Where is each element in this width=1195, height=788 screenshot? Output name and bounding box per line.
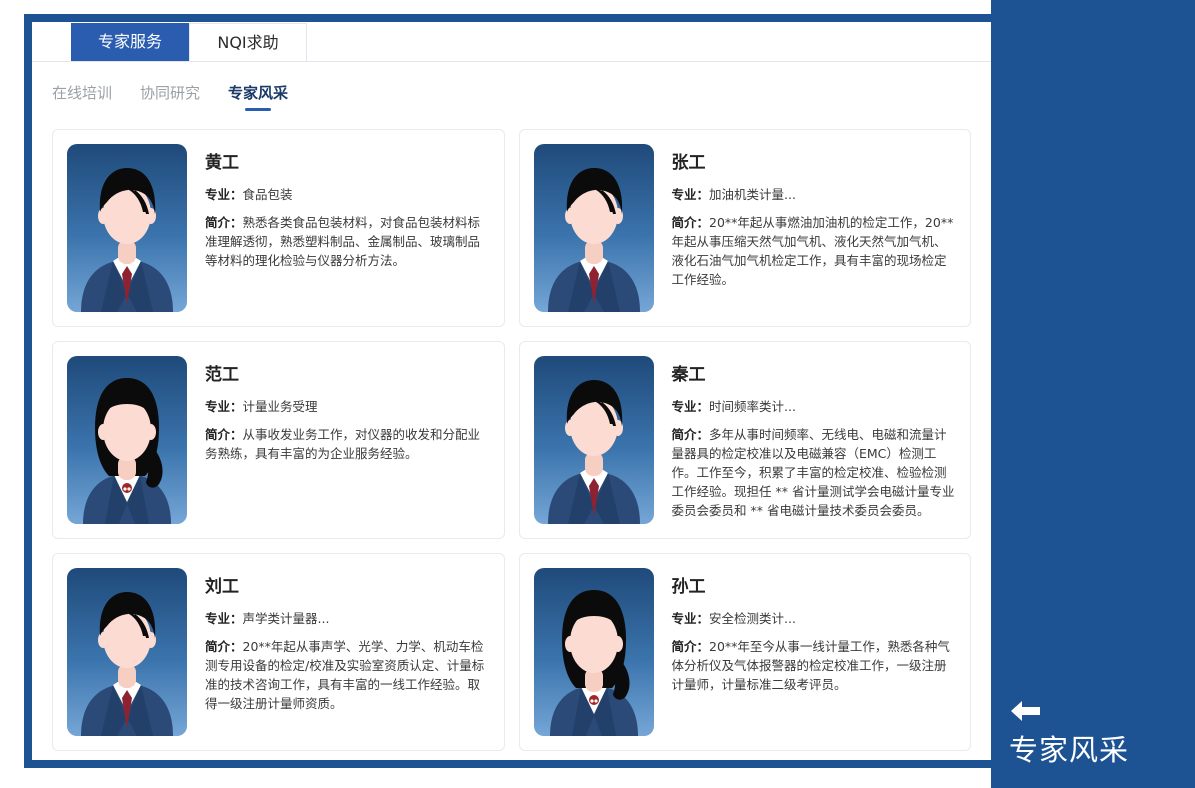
expert-info: 黄工 专业：食品包装 简介：熟悉各类食品包装材料，对食品包装材料标准理解透彻，熟… (187, 144, 490, 312)
major-value: 加油机类计量... (709, 187, 796, 202)
expert-major-row: 专业：安全检测类计... (672, 609, 957, 628)
major-label: 专业： (205, 187, 243, 202)
expert-avatar-范工 (67, 356, 187, 524)
bio-value: 20**年至今从事一线计量工作，熟悉各种气体分析仪及气体报警器的检定校准工作，一… (672, 639, 950, 692)
expert-card-4[interactable]: 秦工 专业：时间频率类计... 简介：多年从事时间频率、无线电、电磁和流量计量器… (519, 341, 972, 539)
bio-label: 简介： (205, 639, 243, 654)
expert-card-5[interactable]: 刘工 专业：声学类计量器... 简介：20**年起从事声学、光学、力学、机动车检… (52, 553, 505, 751)
expert-bio-row: 简介：20**年起从事声学、光学、力学、机动车检测专用设备的检定/校准及实验室资… (205, 637, 490, 713)
bio-value: 20**年起从事声学、光学、力学、机动车检测专用设备的检定/校准及实验室资质认定… (205, 639, 484, 711)
expert-name: 范工 (205, 360, 490, 385)
expert-info: 孙工 专业：安全检测类计... 简介：20**年至今从事一线计量工作，熟悉各种气… (654, 568, 957, 736)
expert-avatar-刘工 (67, 568, 187, 736)
expert-card-grid: 黄工 专业：食品包装 简介：熟悉各类食品包装材料，对食品包装材料标准理解透彻，熟… (32, 111, 991, 751)
expert-name: 孙工 (672, 572, 957, 597)
expert-avatar-秦工 (534, 356, 654, 524)
bio-label: 简介： (672, 427, 710, 442)
major-label: 专业： (205, 611, 243, 626)
major-value: 计量业务受理 (243, 399, 318, 414)
bio-label: 简介： (205, 215, 243, 230)
expert-info: 刘工 专业：声学类计量器... 简介：20**年起从事声学、光学、力学、机动车检… (187, 568, 490, 736)
major-value: 时间频率类计... (709, 399, 796, 414)
sub-tab-bar: 在线培训 协同研究 专家风采 (32, 62, 991, 111)
expert-card-1[interactable]: 黄工 专业：食品包装 简介：熟悉各类食品包装材料，对食品包装材料标准理解透彻，熟… (52, 129, 505, 327)
expert-info: 范工 专业：计量业务受理 简介：从事收发业务工作，对仪器的收发和分配业务熟练，具… (187, 356, 490, 524)
expert-bio-row: 简介：从事收发业务工作，对仪器的收发和分配业务熟练，具有丰富的为企业服务经验。 (205, 425, 490, 463)
app-window-frame: 专家服务 NQI求助 在线培训 协同研究 专家风采 (24, 14, 991, 768)
tab-nqi-help[interactable]: NQI求助 (189, 23, 307, 61)
expert-name: 刘工 (205, 572, 490, 597)
expert-bio-row: 简介：20**年至今从事一线计量工作，熟悉各种气体分析仪及气体报警器的检定校准工… (672, 637, 957, 694)
expert-name: 张工 (672, 148, 957, 173)
major-value: 安全检测类计... (709, 611, 796, 626)
sub-tab-expert-showcase[interactable]: 专家风采 (228, 82, 288, 111)
bio-value: 多年从事时间频率、无线电、电磁和流量计量器具的检定校准以及电磁兼容（EMC）检测… (672, 427, 955, 518)
major-label: 专业： (205, 399, 243, 414)
expert-card-3[interactable]: 范工 专业：计量业务受理 简介：从事收发业务工作，对仪器的收发和分配业务熟练，具… (52, 341, 505, 539)
expert-card-6[interactable]: 孙工 专业：安全检测类计... 简介：20**年至今从事一线计量工作，熟悉各种气… (519, 553, 972, 751)
bio-label: 简介： (672, 215, 710, 230)
sub-tab-online-training[interactable]: 在线培训 (52, 82, 112, 111)
expert-card-2[interactable]: 张工 专业：加油机类计量... 简介：20**年起从事燃油加油机的检定工作，20… (519, 129, 972, 327)
app-content: 专家服务 NQI求助 在线培训 协同研究 专家风采 (32, 22, 991, 760)
bio-value: 20**年起从事燃油加油机的检定工作，20**年起从事压缩天然气加气机、液化天然… (672, 215, 954, 287)
major-label: 专业： (672, 187, 710, 202)
expert-bio-row: 简介：多年从事时间频率、无线电、电磁和流量计量器具的检定校准以及电磁兼容（EMC… (672, 425, 957, 520)
expert-major-row: 专业：时间频率类计... (672, 397, 957, 416)
major-label: 专业： (672, 611, 710, 626)
bio-label: 简介： (672, 639, 710, 654)
expert-name: 黄工 (205, 148, 490, 173)
side-panel: 专家风采 (991, 0, 1195, 788)
expert-bio-row: 简介：20**年起从事燃油加油机的检定工作，20**年起从事压缩天然气加气机、液… (672, 213, 957, 289)
expert-major-row: 专业：加油机类计量... (672, 185, 957, 204)
expert-info: 秦工 专业：时间频率类计... 简介：多年从事时间频率、无线电、电磁和流量计量器… (654, 356, 957, 524)
bio-value: 熟悉各类食品包装材料，对食品包装材料标准理解透彻，熟悉塑料制品、金属制品、玻璃制… (205, 215, 480, 268)
bio-value: 从事收发业务工作，对仪器的收发和分配业务熟练，具有丰富的为企业服务经验。 (205, 427, 480, 461)
expert-info: 张工 专业：加油机类计量... 简介：20**年起从事燃油加油机的检定工作，20… (654, 144, 957, 312)
expert-avatar-黄工 (67, 144, 187, 312)
main-tab-bar: 专家服务 NQI求助 (32, 22, 991, 62)
sub-tab-collaborative-research[interactable]: 协同研究 (140, 82, 200, 111)
expert-avatar-孙工 (534, 568, 654, 736)
major-value: 食品包装 (243, 187, 293, 202)
expert-name: 秦工 (672, 360, 957, 385)
expert-major-row: 专业：声学类计量器... (205, 609, 490, 628)
expert-avatar-张工 (534, 144, 654, 312)
expert-major-row: 专业：计量业务受理 (205, 397, 490, 416)
major-label: 专业： (672, 399, 710, 414)
arrow-left-icon[interactable] (1009, 698, 1195, 730)
expert-major-row: 专业：食品包装 (205, 185, 490, 204)
expert-bio-row: 简介：熟悉各类食品包装材料，对食品包装材料标准理解透彻，熟悉塑料制品、金属制品、… (205, 213, 490, 270)
side-panel-caption: 专家风采 (1009, 730, 1195, 770)
bio-label: 简介： (205, 427, 243, 442)
major-value: 声学类计量器... (243, 611, 330, 626)
tab-expert-service[interactable]: 专家服务 (71, 23, 189, 61)
